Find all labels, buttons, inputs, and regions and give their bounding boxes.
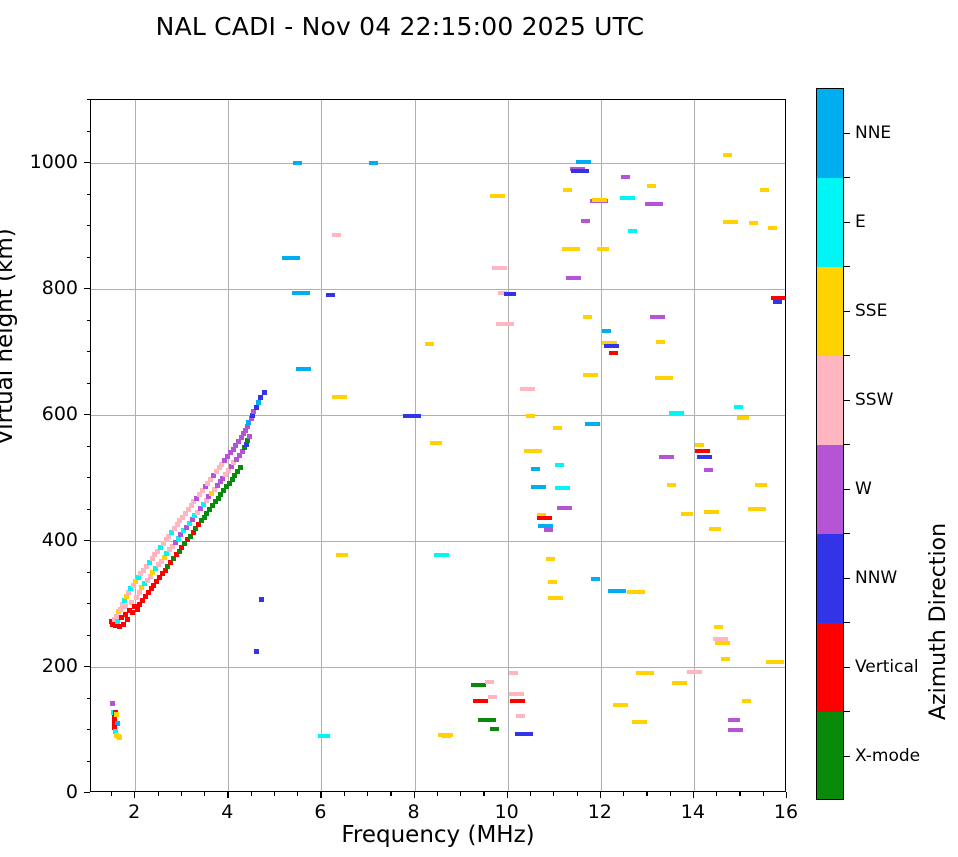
data-point xyxy=(473,699,488,703)
colorbar-segment-sse[interactable] xyxy=(817,267,843,357)
colorbar-boundary-tick xyxy=(844,622,850,623)
data-point xyxy=(627,590,645,594)
data-point xyxy=(254,405,259,410)
data-point xyxy=(667,483,676,487)
data-point xyxy=(659,455,674,459)
data-point xyxy=(695,443,704,447)
x-tick-minor xyxy=(623,792,624,796)
data-point xyxy=(555,486,570,490)
gridline-horizontal xyxy=(91,289,785,290)
x-tick-minor xyxy=(483,792,484,796)
data-point xyxy=(434,553,449,557)
x-tick-major xyxy=(320,792,321,798)
y-tick-minor xyxy=(87,635,91,636)
x-tick-minor xyxy=(274,792,275,796)
colorbar-boundary-tick xyxy=(844,444,850,445)
x-tick-label: 12 xyxy=(588,801,612,823)
data-point xyxy=(650,315,665,319)
y-tick-minor xyxy=(87,99,91,100)
data-point xyxy=(742,699,751,703)
colorbar-segment-nne[interactable] xyxy=(817,89,843,179)
y-tick-minor xyxy=(87,698,91,699)
data-point xyxy=(773,300,782,304)
data-point xyxy=(135,607,140,612)
y-tick-label: 800 xyxy=(42,277,78,299)
x-tick-major xyxy=(693,792,694,798)
x-tick-major xyxy=(414,792,415,798)
x-tick-minor xyxy=(111,792,112,796)
x-tick-minor xyxy=(460,792,461,796)
x-tick-minor xyxy=(530,792,531,796)
data-point xyxy=(597,247,609,251)
data-point xyxy=(697,455,712,459)
data-point xyxy=(755,483,767,487)
data-point xyxy=(531,467,540,471)
x-tick-minor xyxy=(716,792,717,796)
data-point xyxy=(604,344,619,348)
data-point xyxy=(430,441,442,445)
colorbar-boundary-tick xyxy=(844,355,850,356)
x-tick-minor xyxy=(577,792,578,796)
y-tick-major xyxy=(84,666,90,667)
data-point xyxy=(442,734,451,738)
y-tick-minor xyxy=(87,131,91,132)
data-point xyxy=(709,527,721,531)
data-point xyxy=(647,184,656,188)
data-point xyxy=(121,622,126,627)
colorbar-label-nne: NNE xyxy=(855,123,891,143)
x-axis-title: Frequency (MHz) xyxy=(90,822,786,848)
x-tick-minor xyxy=(763,792,764,796)
y-tick-minor xyxy=(87,446,91,447)
data-point xyxy=(571,169,589,173)
colorbar-tick xyxy=(844,311,850,312)
colorbar-label-nnw: NNW xyxy=(855,568,897,588)
data-point xyxy=(125,617,130,622)
data-point xyxy=(262,390,267,395)
data-point xyxy=(548,580,557,584)
colorbar-tick xyxy=(844,489,850,490)
x-tick-minor xyxy=(297,792,298,796)
data-point xyxy=(282,256,300,260)
y-tick-label: 1000 xyxy=(30,151,78,173)
colorbar-label-ssw: SSW xyxy=(855,390,893,410)
data-point xyxy=(576,160,591,164)
data-point xyxy=(425,342,434,346)
data-point xyxy=(546,557,555,561)
data-point xyxy=(645,202,663,206)
data-point xyxy=(734,405,743,409)
y-tick-minor xyxy=(87,351,91,352)
x-tick-minor xyxy=(251,792,252,796)
data-point xyxy=(292,291,310,295)
x-tick-major xyxy=(507,792,508,798)
colorbar-title: Azimuth Direction xyxy=(926,523,951,720)
x-tick-minor xyxy=(739,792,740,796)
data-point xyxy=(492,266,507,270)
colorbar-boundary-tick xyxy=(844,266,850,267)
y-tick-minor xyxy=(87,729,91,730)
gridline-vertical xyxy=(321,100,322,791)
x-tick-minor xyxy=(437,792,438,796)
data-point xyxy=(134,595,139,600)
x-tick-minor xyxy=(646,792,647,796)
data-point xyxy=(515,732,533,736)
y-tick-label: 200 xyxy=(42,655,78,677)
data-point xyxy=(585,422,600,426)
data-point xyxy=(326,293,335,297)
data-point xyxy=(760,188,769,192)
data-point xyxy=(748,507,766,511)
data-point xyxy=(555,463,564,467)
data-point xyxy=(609,351,618,355)
x-tick-minor xyxy=(553,792,554,796)
data-point xyxy=(704,468,713,472)
x-tick-label: 10 xyxy=(495,801,519,823)
data-point xyxy=(592,198,607,202)
data-point xyxy=(602,329,611,333)
data-point xyxy=(537,516,552,520)
data-point xyxy=(403,414,421,418)
data-point xyxy=(318,734,330,738)
data-point xyxy=(548,596,563,600)
colorbar-label-vertical: Vertical xyxy=(855,657,919,677)
data-point xyxy=(608,589,626,593)
page-title: NAL CADI - Nov 04 22:15:00 2025 UTC xyxy=(0,12,800,41)
data-point xyxy=(336,553,348,557)
x-tick-minor xyxy=(181,792,182,796)
y-tick-major xyxy=(84,288,90,289)
y-tick-major xyxy=(84,162,90,163)
y-tick-minor xyxy=(87,225,91,226)
data-point xyxy=(114,712,119,717)
data-point xyxy=(251,409,256,414)
y-tick-major xyxy=(84,540,90,541)
y-tick-minor xyxy=(87,761,91,762)
data-point xyxy=(632,720,647,724)
colorbar-segment-w[interactable] xyxy=(817,445,843,535)
data-point xyxy=(723,153,732,157)
data-point xyxy=(254,649,259,654)
y-tick-minor xyxy=(87,477,91,478)
data-point xyxy=(369,161,378,165)
x-tick-minor xyxy=(670,792,671,796)
plot-area[interactable] xyxy=(90,99,786,792)
y-tick-minor xyxy=(87,603,91,604)
data-point xyxy=(332,395,347,399)
data-point xyxy=(655,376,673,380)
colorbar-segment-ssw[interactable] xyxy=(817,356,843,446)
data-point xyxy=(117,735,122,740)
data-point xyxy=(656,340,665,344)
gridline-horizontal xyxy=(91,415,785,416)
data-point xyxy=(553,426,562,430)
ionogram-figure: NAL CADI - Nov 04 22:15:00 2025 UTC 0200… xyxy=(0,0,958,857)
data-point xyxy=(256,400,261,405)
data-point xyxy=(583,373,598,377)
data-point xyxy=(490,727,499,731)
x-tick-label: 8 xyxy=(408,801,420,823)
data-point xyxy=(520,387,535,391)
colorbar-tick xyxy=(844,756,850,757)
data-point xyxy=(332,233,341,237)
x-tick-major xyxy=(786,792,787,798)
data-point xyxy=(737,416,749,420)
x-tick-major xyxy=(134,792,135,798)
data-point xyxy=(562,247,580,251)
data-point xyxy=(721,657,730,661)
data-point xyxy=(510,699,525,703)
data-point xyxy=(669,411,684,415)
x-tick-label: 2 xyxy=(128,801,140,823)
data-point xyxy=(621,175,630,179)
gridline-vertical xyxy=(508,100,509,791)
gridline-vertical xyxy=(228,100,229,791)
x-tick-minor xyxy=(390,792,391,796)
data-point xyxy=(238,465,243,470)
y-tick-minor xyxy=(87,572,91,573)
x-tick-minor xyxy=(158,792,159,796)
colorbar-boundary-tick xyxy=(844,533,850,534)
data-point xyxy=(247,434,252,439)
colorbar-tick xyxy=(844,667,850,668)
y-tick-minor xyxy=(87,257,91,258)
data-point xyxy=(488,695,497,699)
data-point xyxy=(704,510,719,514)
x-tick-label: 16 xyxy=(774,801,798,823)
data-point xyxy=(526,414,535,418)
gridline-vertical xyxy=(415,100,416,791)
colorbar-tick xyxy=(844,222,850,223)
data-point xyxy=(581,219,590,223)
data-point xyxy=(723,220,738,224)
data-point xyxy=(110,701,115,706)
data-point xyxy=(681,512,693,516)
gridline-vertical xyxy=(601,100,602,791)
data-point xyxy=(478,718,496,722)
data-point xyxy=(687,670,702,674)
data-point xyxy=(620,196,635,200)
x-tick-minor xyxy=(204,792,205,796)
colorbar-boundary-tick xyxy=(844,177,850,178)
data-point xyxy=(259,597,264,602)
y-tick-minor xyxy=(87,194,91,195)
y-tick-label: 600 xyxy=(42,403,78,425)
data-point xyxy=(524,449,542,453)
data-point xyxy=(591,577,600,581)
colorbar-label-sse: SSE xyxy=(855,301,887,321)
x-tick-label: 4 xyxy=(221,801,233,823)
data-point xyxy=(504,292,516,296)
gridline-horizontal xyxy=(91,667,785,668)
data-point xyxy=(583,315,592,319)
data-point xyxy=(563,188,572,192)
y-tick-label: 400 xyxy=(42,529,78,551)
data-point xyxy=(516,714,525,718)
data-point xyxy=(509,671,518,675)
x-tick-minor xyxy=(344,792,345,796)
data-point xyxy=(749,221,758,225)
colorbar-segment-vertical[interactable] xyxy=(817,623,843,713)
data-point xyxy=(544,528,553,532)
colorbar-tick xyxy=(844,578,850,579)
colorbar-segment-x-mode[interactable] xyxy=(817,712,843,800)
y-tick-minor xyxy=(87,320,91,321)
data-point xyxy=(485,680,494,684)
y-tick-minor xyxy=(87,383,91,384)
data-point xyxy=(296,367,311,371)
data-point xyxy=(728,728,743,732)
data-point xyxy=(258,395,263,400)
colorbar-label-e: E xyxy=(855,212,866,232)
data-point xyxy=(768,226,777,230)
colorbar-label-w: W xyxy=(855,479,872,499)
data-point xyxy=(566,276,581,280)
colorbar-segment-e[interactable] xyxy=(817,178,843,268)
gridline-horizontal xyxy=(91,541,785,542)
data-point xyxy=(531,485,546,489)
data-point xyxy=(695,449,710,453)
data-point xyxy=(728,718,740,722)
data-point xyxy=(557,506,572,510)
x-tick-label: 6 xyxy=(314,801,326,823)
x-tick-label: 14 xyxy=(681,801,705,823)
data-point xyxy=(509,692,524,696)
y-tick-minor xyxy=(87,509,91,510)
x-tick-major xyxy=(227,792,228,798)
colorbar-segment-nnw[interactable] xyxy=(817,534,843,624)
colorbar-tick xyxy=(844,133,850,134)
data-point xyxy=(672,681,687,685)
colorbar[interactable] xyxy=(816,88,844,800)
colorbar-tick xyxy=(844,400,850,401)
data-point xyxy=(613,703,628,707)
data-point xyxy=(490,194,505,198)
y-tick-major xyxy=(84,414,90,415)
data-point xyxy=(628,229,637,233)
gridline-vertical xyxy=(135,100,136,791)
data-point xyxy=(293,161,302,165)
data-point xyxy=(137,590,142,595)
x-tick-minor xyxy=(367,792,368,796)
data-point xyxy=(766,660,784,664)
y-axis-title: Virtual height (km) xyxy=(0,228,18,445)
data-point xyxy=(636,671,654,675)
data-point xyxy=(714,625,723,629)
y-tick-label: 0 xyxy=(66,781,78,803)
y-tick-major xyxy=(84,792,90,793)
colorbar-boundary-tick xyxy=(844,711,850,712)
data-point xyxy=(496,322,514,326)
gridline-horizontal xyxy=(91,163,785,164)
data-point xyxy=(715,641,730,645)
data-point xyxy=(713,637,728,641)
colorbar-label-x-mode: X-mode xyxy=(855,746,920,766)
x-tick-major xyxy=(600,792,601,798)
